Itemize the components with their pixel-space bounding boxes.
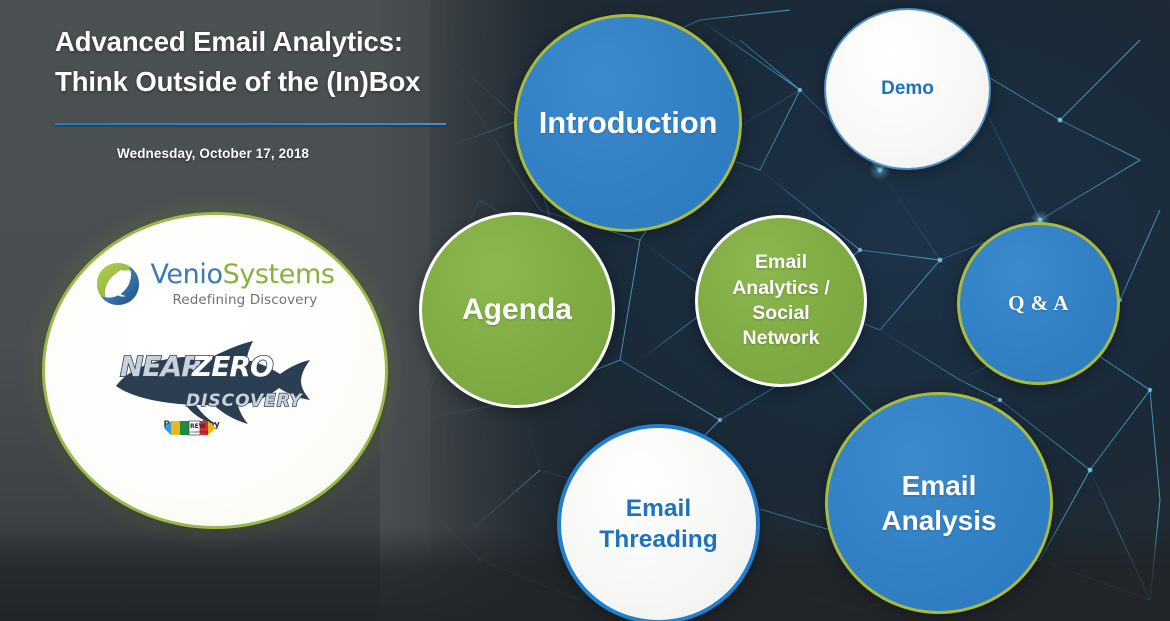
presentation-slide: Advanced Email Analytics: Think Outside … [0, 0, 1170, 621]
venio-leaf-icon [95, 261, 141, 307]
venio-name-primary: Venio [150, 259, 222, 290]
nearzero-discovery-logo: NEAR ZERO DISCOVERY Powered by REW [108, 332, 323, 428]
svg-text:COMPUTING: COMPUTING [190, 430, 209, 434]
bubble-email-threading-label: EmailThreading [599, 493, 717, 556]
bubble-demo[interactable]: Demo [824, 8, 991, 170]
venio-tagline: Redefining Discovery [172, 294, 334, 308]
bubble-agenda[interactable]: Agenda [419, 212, 615, 408]
bubble-introduction-label: Introduction [539, 105, 717, 141]
venio-name: VenioSystems [150, 261, 334, 288]
title-divider [55, 123, 446, 125]
bubble-email-analysis[interactable]: EmailAnalysis [825, 392, 1053, 614]
page-title-line-1: Advanced Email Analytics: [55, 22, 475, 62]
venio-wordmark: VenioSystems Redefining Discovery [150, 261, 334, 308]
bubble-introduction[interactable]: Introduction [514, 14, 742, 232]
page-title-line-2: Think Outside of the (In)Box [55, 62, 475, 102]
powered-by-block: Powered by REW COMPUTING [164, 420, 225, 430]
venio-name-secondary: Systems [223, 259, 335, 290]
bubble-qa[interactable]: Q & A [957, 222, 1120, 385]
svg-text:DISCOVERY: DISCOVERY [186, 391, 303, 411]
svg-text:ZERO: ZERO [191, 350, 273, 383]
title-block: Advanced Email Analytics: Think Outside … [55, 22, 475, 161]
svg-text:NEAR: NEAR [120, 350, 202, 383]
presentation-date: Wednesday, October 17, 2018 [117, 146, 475, 161]
bubble-email-analytics-social-network-label: EmailAnalytics /SocialNetwork [732, 250, 830, 351]
bubble-agenda-label: Agenda [462, 293, 572, 327]
bubble-demo-label: Demo [881, 78, 934, 100]
bubble-email-threading[interactable]: EmailThreading [557, 424, 760, 621]
nearzero-wordmark: NEAR ZERO DISCOVERY [108, 332, 323, 428]
bubble-email-analytics-social-network[interactable]: EmailAnalytics /SocialNetwork [695, 215, 867, 387]
logo-badge: VenioSystems Redefining Discovery NEAR Z… [42, 212, 388, 529]
venio-systems-logo: VenioSystems Redefining Discovery [95, 261, 334, 308]
bubble-qa-label: Q & A [1008, 291, 1069, 316]
bubble-email-analysis-label: EmailAnalysis [881, 468, 996, 539]
svg-text:REW: REW [190, 423, 206, 430]
